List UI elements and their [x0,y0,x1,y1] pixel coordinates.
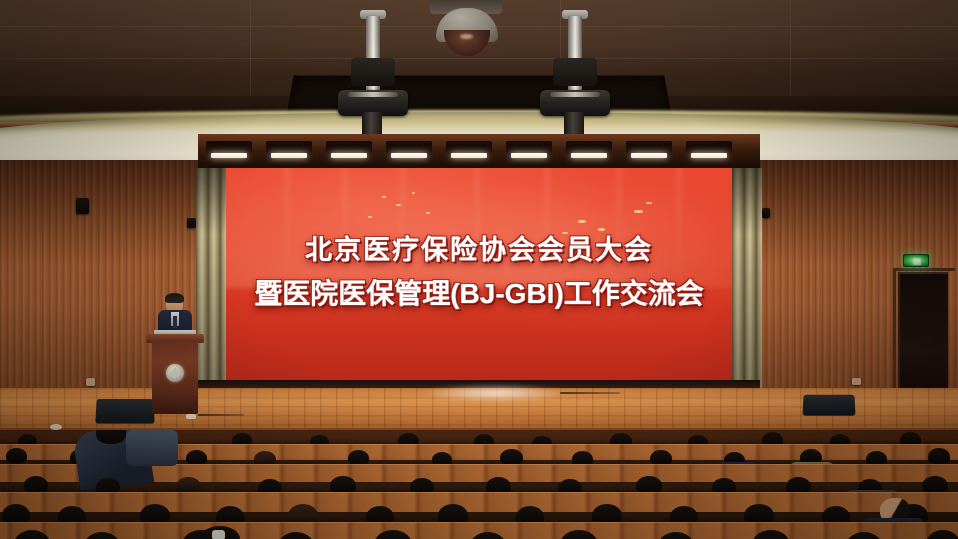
stage-light-lamp [691,153,727,158]
stage-light-lamp [511,153,547,158]
gold-confetti [368,216,372,218]
standing-person-arm [126,430,178,466]
auditorium-photo: 北京医疗保险协会会员大会 暨医院医保管理(BJ-GBI)工作交流会 [0,0,958,539]
stage-cable [198,414,244,416]
wall-speaker-box [76,198,89,214]
stage-light-lamp [571,153,607,158]
stage-curtain-right [732,168,762,390]
stage-light-lamp [451,153,487,158]
emergency-exit-sign [903,254,929,267]
auditorium-seating-area [0,430,958,539]
led-title-line-2: 暨医院医保管理(BJ-GBI)工作交流会 [226,272,732,312]
hair-clip [212,530,225,539]
audience-head [6,448,27,464]
stage-light-lamp [211,153,247,158]
gold-confetti [634,210,643,213]
speaker-hair [165,293,184,303]
wall-outlet [86,378,95,386]
wall-speaker-box [187,218,196,228]
stage-light-lamp [391,153,427,158]
stage-monitor-speaker [95,399,154,424]
stage-floor-object [186,414,196,419]
ceiling-seam [0,58,958,59]
wall-speaker-box [762,208,770,218]
wall-outlet [852,378,861,385]
stage-monitor-speaker [802,395,855,416]
gold-confetti [412,192,415,194]
suspended-projector-rig [540,6,610,144]
stage-cable [560,392,620,394]
stage-light-lamp [271,153,307,158]
audience-head [928,448,950,465]
stage-light-lamp [331,153,367,158]
rig-head-highlight [550,92,600,97]
suspended-projector-rig [338,6,408,144]
rig-head-highlight [348,92,398,97]
dome-camera-highlight [460,34,473,39]
rig-yoke [553,58,597,86]
stage-floor-glare [420,384,570,402]
led-title-line-1: 北京医疗保险协会会员大会 [226,228,732,267]
speaker-tie [173,316,177,328]
gold-confetti [396,204,401,206]
overhead-stage-light-bar [198,134,760,168]
rig-yoke [351,58,395,86]
stage-light-lamp [631,153,667,158]
gold-confetti [382,196,386,198]
podium-emblem [166,364,184,382]
gold-confetti [578,220,586,223]
ceiling-seam [250,0,251,96]
ceiling-seam [790,0,791,96]
gold-confetti [426,212,430,214]
gold-confetti [646,202,652,204]
stage-curtain-left [196,168,226,390]
led-backdrop-screen: 北京医疗保险协会会员大会 暨医院医保管理(BJ-GBI)工作交流会 [226,168,732,384]
side-doorway[interactable] [898,272,948,402]
